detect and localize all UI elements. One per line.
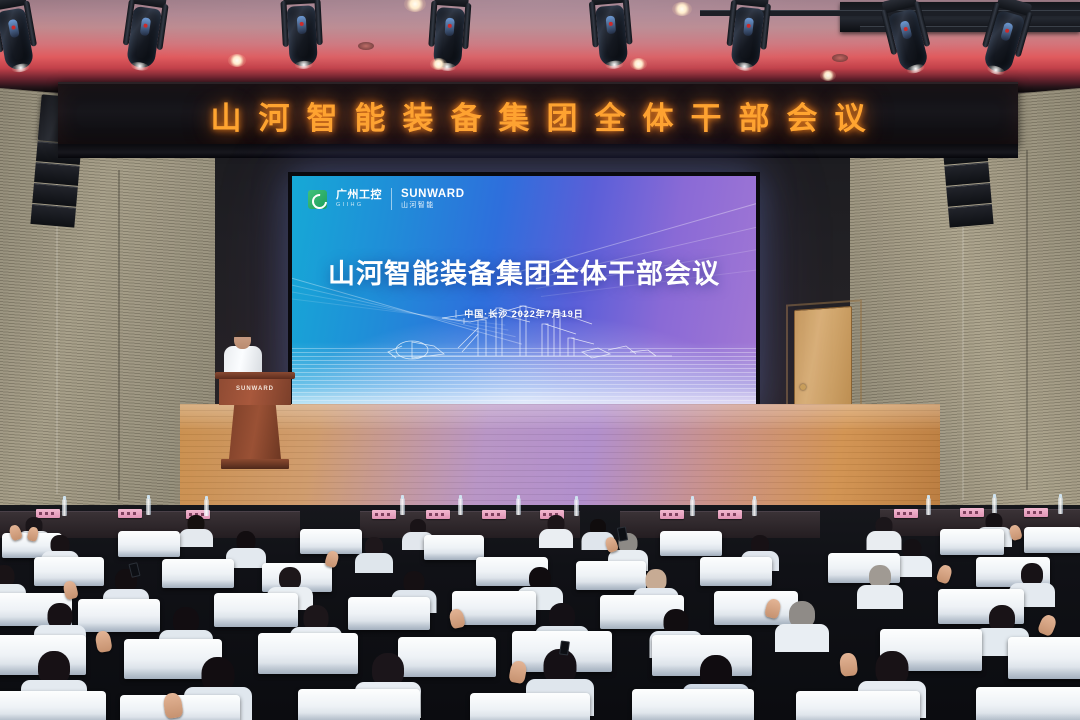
sunward-logo-cn: 山河智能 bbox=[401, 200, 465, 210]
seat[interactable] bbox=[398, 637, 496, 677]
logo-divider bbox=[391, 188, 392, 210]
ceiling-downlight bbox=[630, 58, 647, 70]
seat[interactable] bbox=[470, 693, 590, 720]
led-banner: 山河智能装备集团全体干部会议 bbox=[58, 82, 1018, 146]
seat[interactable] bbox=[0, 691, 106, 720]
water-bottle bbox=[992, 497, 997, 514]
seat[interactable] bbox=[1008, 637, 1080, 679]
seat[interactable] bbox=[700, 557, 772, 586]
applauding-hand bbox=[839, 652, 858, 677]
name-card bbox=[372, 510, 396, 519]
giihg-logo-icon bbox=[308, 190, 327, 209]
water-bottle bbox=[516, 498, 521, 515]
podium-stem bbox=[229, 405, 281, 459]
ceiling-downlight bbox=[430, 58, 447, 70]
applauding-hand bbox=[1037, 613, 1058, 637]
water-bottle bbox=[574, 499, 579, 516]
podium-top bbox=[215, 372, 295, 379]
stage-floor-reflection bbox=[180, 404, 940, 510]
water-bottle bbox=[752, 499, 757, 516]
led-screen-frame: 广州工控 GIIHG SUNWARD 山河智能 山河智能装备集团全体干部会议 中… bbox=[288, 172, 760, 418]
giihg-logo-en: GIIHG bbox=[336, 202, 382, 208]
smoke-detector-icon bbox=[832, 54, 848, 62]
seat[interactable] bbox=[632, 689, 754, 720]
smoke-detector-icon bbox=[358, 42, 374, 50]
podium-body bbox=[219, 379, 291, 405]
seat[interactable] bbox=[1024, 527, 1080, 553]
door-knob-icon[interactable] bbox=[800, 384, 806, 390]
seat[interactable] bbox=[424, 535, 484, 560]
water-bottle bbox=[458, 498, 463, 515]
speaker-podium: SUNWARD bbox=[218, 372, 292, 470]
smartphone[interactable] bbox=[128, 562, 140, 578]
seat[interactable] bbox=[940, 529, 1004, 555]
water-bottle bbox=[690, 499, 695, 516]
seat[interactable] bbox=[976, 687, 1080, 720]
speaker-person-head bbox=[234, 330, 251, 349]
name-card bbox=[1024, 508, 1048, 517]
podium-brand-label: SUNWARD bbox=[218, 386, 292, 392]
seat[interactable] bbox=[78, 599, 160, 632]
water-bottle bbox=[926, 498, 931, 515]
water-bottle bbox=[62, 499, 67, 516]
name-card bbox=[718, 510, 742, 519]
ceiling-downlight bbox=[672, 2, 692, 16]
sunward-logo-en: SUNWARD bbox=[401, 188, 465, 200]
water-bottle bbox=[204, 499, 209, 516]
podium-base bbox=[221, 459, 289, 469]
seat[interactable] bbox=[576, 561, 646, 590]
wall-seam bbox=[1026, 150, 1028, 490]
led-screen: 广州工控 GIIHG SUNWARD 山河智能 山河智能装备集团全体干部会议 中… bbox=[292, 176, 756, 414]
applauding-hand bbox=[94, 630, 112, 653]
water-bottle bbox=[146, 498, 151, 515]
name-card bbox=[894, 509, 918, 518]
screen-logo-lockup: 广州工控 GIIHG SUNWARD 山河智能 bbox=[308, 188, 465, 210]
seat[interactable] bbox=[258, 633, 358, 674]
wall-seam bbox=[118, 170, 120, 500]
banner-under-rail bbox=[58, 144, 1018, 158]
seat[interactable] bbox=[298, 689, 420, 720]
conference-hall-photo: 山河智能装备集团全体干部会议 bbox=[0, 0, 1080, 720]
water-bottle bbox=[1058, 497, 1063, 514]
name-card bbox=[660, 510, 684, 519]
seat[interactable] bbox=[118, 531, 180, 557]
giihg-logo-cn: 广州工控 bbox=[336, 190, 382, 202]
water-bottle bbox=[400, 498, 405, 515]
seat[interactable] bbox=[214, 593, 298, 627]
seat[interactable] bbox=[162, 559, 234, 588]
ceiling-downlight bbox=[820, 70, 836, 81]
seat[interactable] bbox=[714, 591, 798, 625]
seat[interactable] bbox=[796, 691, 920, 720]
led-banner-text: 山河智能装备集团全体干部会议 bbox=[194, 93, 883, 138]
name-card bbox=[960, 508, 984, 517]
applauding-hand bbox=[936, 563, 954, 584]
name-card bbox=[118, 509, 142, 518]
name-card bbox=[482, 510, 506, 519]
ceiling-downlight bbox=[228, 54, 246, 67]
screen-title: 山河智能装备集团全体干部会议 bbox=[292, 252, 756, 291]
smartphone[interactable] bbox=[559, 640, 570, 655]
name-card bbox=[36, 509, 60, 518]
seat[interactable] bbox=[348, 597, 430, 630]
audience-seating bbox=[0, 505, 1080, 720]
seat[interactable] bbox=[660, 531, 722, 556]
screen-subtitle: 中国·长沙 2022年7月19日 bbox=[292, 307, 756, 320]
name-card bbox=[426, 510, 450, 519]
